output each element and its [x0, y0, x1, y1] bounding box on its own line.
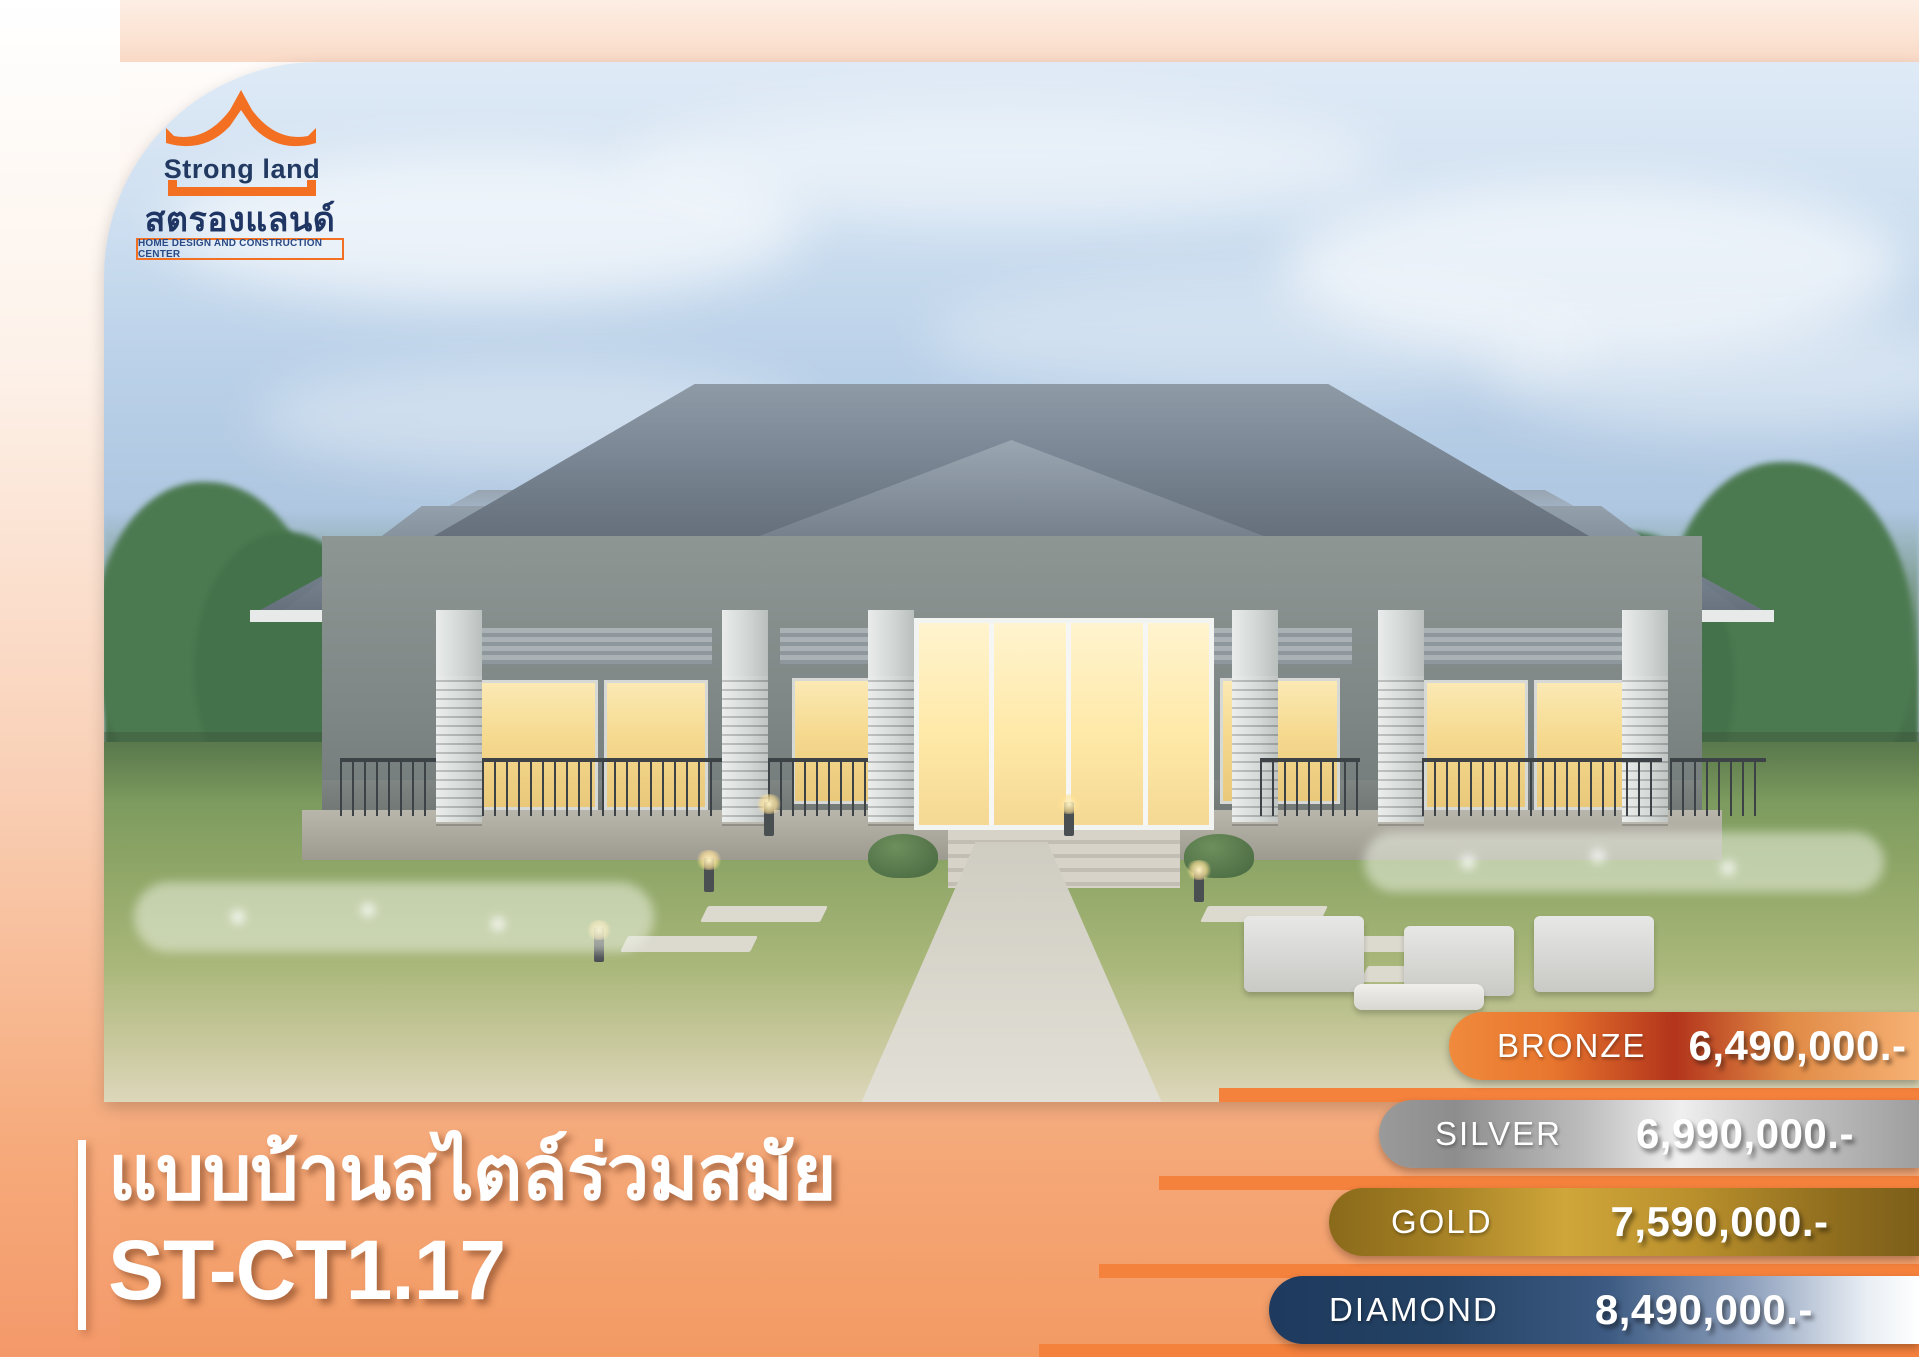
top-accent-band — [0, 0, 1919, 62]
brand-logo[interactable]: Strong land สตรองแลนด์ HOME DESIGN AND C… — [120, 88, 360, 248]
price-badge-silver[interactable]: SILVER 6,990,000.- — [1379, 1100, 1919, 1168]
paver-slab — [700, 906, 828, 922]
column — [868, 610, 914, 822]
shrub — [868, 834, 938, 878]
house-render — [232, 310, 1792, 920]
garden-lamp — [764, 802, 774, 836]
stone-cladding — [1378, 676, 1424, 826]
logo-tagline: HOME DESIGN AND CONSTRUCTION CENTER — [136, 238, 344, 260]
tier-name-diamond: DIAMOND — [1329, 1291, 1499, 1329]
column — [436, 610, 482, 822]
railing — [482, 758, 722, 816]
door-mullion — [1143, 623, 1148, 825]
railing — [1260, 758, 1360, 816]
railing — [768, 758, 868, 816]
poster: Strong land สตรองแลนด์ HOME DESIGN AND C… — [0, 0, 1919, 1357]
logo-name-en: Strong land — [128, 154, 356, 185]
column — [1378, 610, 1424, 822]
railing — [1670, 758, 1766, 816]
tier-price-gold: 7,590,000.- — [1611, 1198, 1829, 1246]
railing — [1422, 758, 1662, 816]
garden-lamp — [1064, 802, 1074, 836]
column — [722, 610, 768, 822]
garden-lamp — [1194, 868, 1204, 902]
door-mullion — [989, 623, 994, 825]
flower-bed — [1364, 832, 1884, 892]
tier-name-silver: SILVER — [1435, 1115, 1562, 1153]
louver-panel — [462, 628, 712, 664]
cloud — [624, 102, 1384, 222]
price-badge-gold[interactable]: GOLD 7,590,000.- — [1329, 1188, 1919, 1256]
price-tier-list: BRONZE 6,490,000.- SILVER 6,990,000.- GO… — [0, 1012, 1919, 1357]
price-badge-bronze[interactable]: BRONZE 6,490,000.- — [1449, 1012, 1919, 1080]
garden-lamp — [704, 858, 714, 892]
tier-name-gold: GOLD — [1391, 1203, 1493, 1241]
tier-price-silver: 6,990,000.- — [1636, 1110, 1854, 1158]
flower-bed — [134, 882, 654, 952]
patio-table — [1354, 984, 1484, 1010]
price-badge-diamond[interactable]: DIAMOND 8,490,000.- — [1269, 1276, 1919, 1344]
patio-chair — [1534, 916, 1654, 992]
tier-name-bronze: BRONZE — [1497, 1027, 1647, 1065]
badge-separator — [1039, 1344, 1919, 1357]
stone-cladding — [868, 676, 914, 826]
thai-roof-icon — [148, 88, 334, 152]
tier-price-bronze: 6,490,000.- — [1689, 1022, 1907, 1070]
railing — [340, 758, 436, 816]
hero-photo — [104, 62, 1919, 1102]
patio-sofa — [1244, 916, 1364, 992]
tier-price-diamond: 8,490,000.- — [1595, 1286, 1813, 1334]
stone-cladding — [436, 676, 482, 826]
